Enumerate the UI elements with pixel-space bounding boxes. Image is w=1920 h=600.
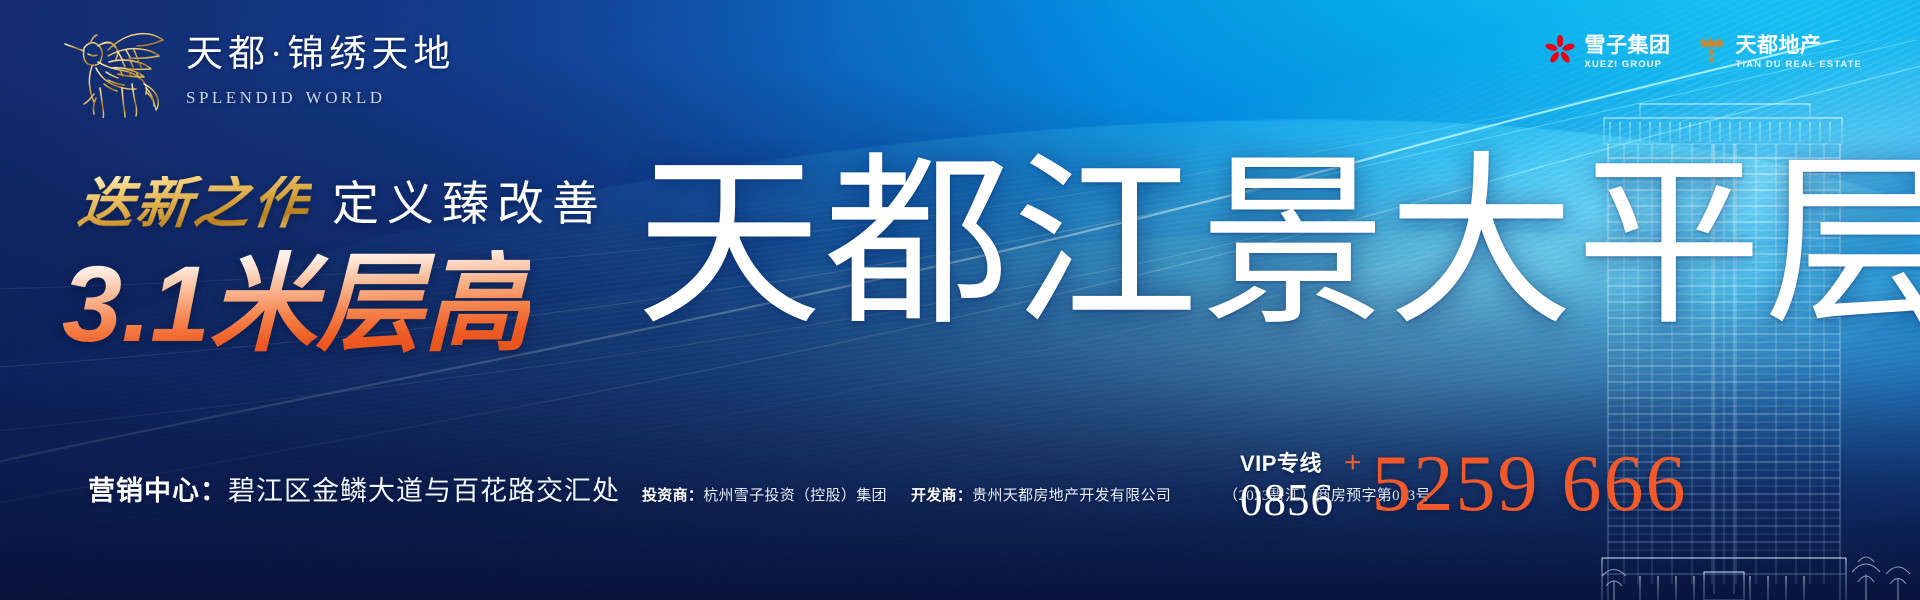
kicker-gold-text: 迭新之作 [75, 176, 313, 232]
investor-label: 投资商： [642, 488, 703, 504]
partner-logo-xuezi: 雪子集团 XUEZI GROUP [1544, 34, 1671, 71]
brand-name-cn: 天都·锦绣天地 [186, 36, 455, 73]
vip-hotline[interactable]: VIP专线 0856 + 5259 666 [1240, 446, 1688, 522]
tiandu-crown-mark-icon [1697, 34, 1727, 71]
partner-logo-tiandu: 天都地产 TIAN DU REAL ESTATE [1697, 34, 1862, 71]
partner-name-cn-xuezi: 雪子集团 [1585, 35, 1671, 56]
xuezi-flower-mark-icon [1544, 34, 1576, 71]
partner-logo-group: 雪子集团 XUEZI GROUP 天都地产 [1544, 34, 1862, 71]
footer-info: 营销中心： 碧江区金鳞大道与百花路交汇处 投资商：杭州雪子投资（控股）集团 开发… [88, 469, 1431, 508]
sales-center-label: 营销中心： [88, 469, 228, 508]
feature-headline: 3.1米层高 [62, 250, 530, 358]
developer-label: 开发商： [911, 488, 972, 504]
partner-name-en-tiandu: TIAN DU REAL ESTATE [1736, 60, 1862, 70]
developer-name: 贵州天都房地产开发有限公司 [972, 488, 1171, 504]
kicker-line: 迭新之作 定义臻改善 [78, 176, 607, 232]
kicker-white-text: 定义臻改善 [332, 182, 607, 232]
sales-center-address: 碧江区金鳞大道与百花路交汇处 [228, 469, 620, 508]
hotline-separator: + [1344, 446, 1362, 522]
winged-unicorn-icon [62, 26, 166, 118]
hero-headline: 天都江景大平层 [636, 152, 1920, 338]
partner-name-en-xuezi: XUEZI GROUP [1585, 60, 1671, 70]
poster-canvas: 天都·锦绣天地 Splendid World 雪子集团 XUE [0, 0, 1920, 600]
vip-hotline-label: VIP专线 [1240, 453, 1334, 475]
brand-logo: 天都·锦绣天地 Splendid World [62, 26, 455, 118]
hotline-number: 5259 666 [1372, 448, 1688, 522]
partner-name-cn-tiandu: 天都地产 [1736, 35, 1862, 56]
hotline-area-code: 0856 [1240, 479, 1334, 522]
brand-name-en: Splendid World [186, 84, 455, 108]
investor-name: 杭州雪子投资（控股）集团 [703, 488, 887, 504]
